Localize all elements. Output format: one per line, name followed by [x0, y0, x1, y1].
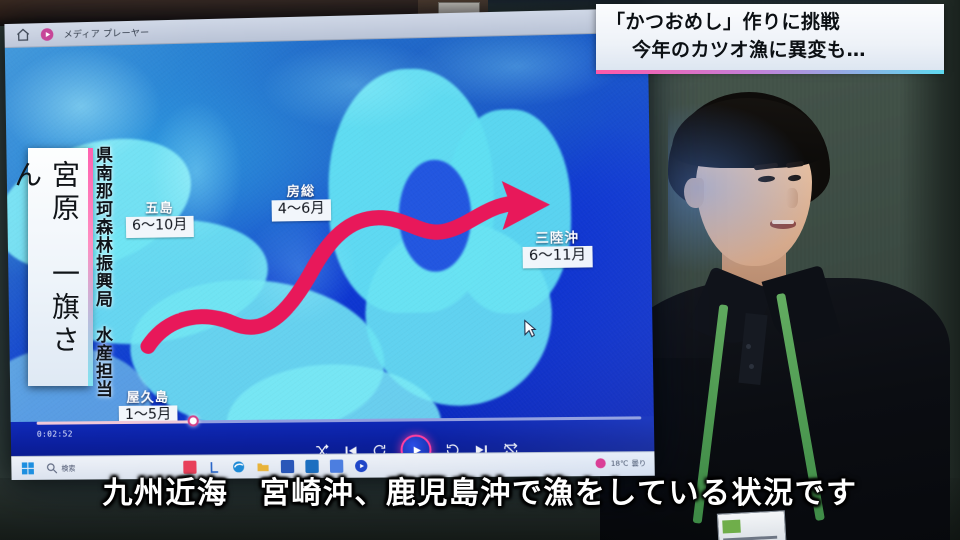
map-label-title: 屋久島 — [126, 391, 169, 406]
headline-accent-bar — [596, 70, 944, 74]
name-card: 宮原 一旗さん — [28, 148, 90, 386]
id-badge — [717, 510, 787, 540]
home-icon[interactable] — [15, 27, 30, 42]
map-label-period: 6〜10月 — [126, 216, 194, 238]
presenter-fringe — [672, 98, 824, 168]
id-badge-line — [723, 536, 777, 540]
mouse-pointer-icon — [524, 319, 537, 338]
map-label-title: 三陸沖 — [535, 232, 579, 247]
subtitle-caption: 九州近海 宮崎沖、鹿児島沖で漁をしている状況です — [0, 468, 960, 512]
map-label-period: 6〜11月 — [523, 246, 593, 268]
app-title: メディア プレーヤー — [64, 25, 150, 40]
presenter-affiliation: 県南那珂森林振興局 水産担当 — [92, 146, 112, 398]
weather-temperature: 18℃ — [611, 459, 629, 467]
map-label-goto: 五島 6〜10月 — [126, 197, 194, 238]
screenshot-root: メディア プレーヤー — [0, 0, 960, 540]
headline-box: 「かつおめし」作りに挑戦 今年のカツオ漁に異変も… — [596, 4, 944, 70]
presenter-nose — [786, 188, 798, 208]
map-label-sanriku: 三陸沖 6〜11月 — [522, 226, 592, 268]
seek-progress-fill — [37, 420, 193, 424]
elapsed-time: 0:02:52 — [37, 429, 73, 438]
presenter-shirt-button — [749, 364, 754, 369]
headline-line-1: 「かつおめし」作りに挑戦 — [606, 9, 932, 37]
id-badge-photo — [722, 520, 741, 534]
map-label-boso: 房総 4〜6月 — [271, 180, 331, 221]
map-label-title: 五島 — [145, 202, 174, 217]
headline-line-2: 今年のカツオ漁に異変も… — [606, 37, 932, 65]
presenter-name: 宮原 一旗さん — [7, 160, 83, 374]
presenter-ear — [684, 178, 704, 208]
presenter-teeth — [772, 220, 794, 224]
seek-handle[interactable] — [188, 415, 199, 426]
weather-description: 曇り — [631, 458, 646, 468]
map-label-period: 4〜6月 — [272, 200, 331, 222]
media-player-icon[interactable] — [39, 27, 54, 42]
presenter-shirt-button — [746, 344, 751, 349]
map-label-title: 房総 — [287, 185, 316, 200]
